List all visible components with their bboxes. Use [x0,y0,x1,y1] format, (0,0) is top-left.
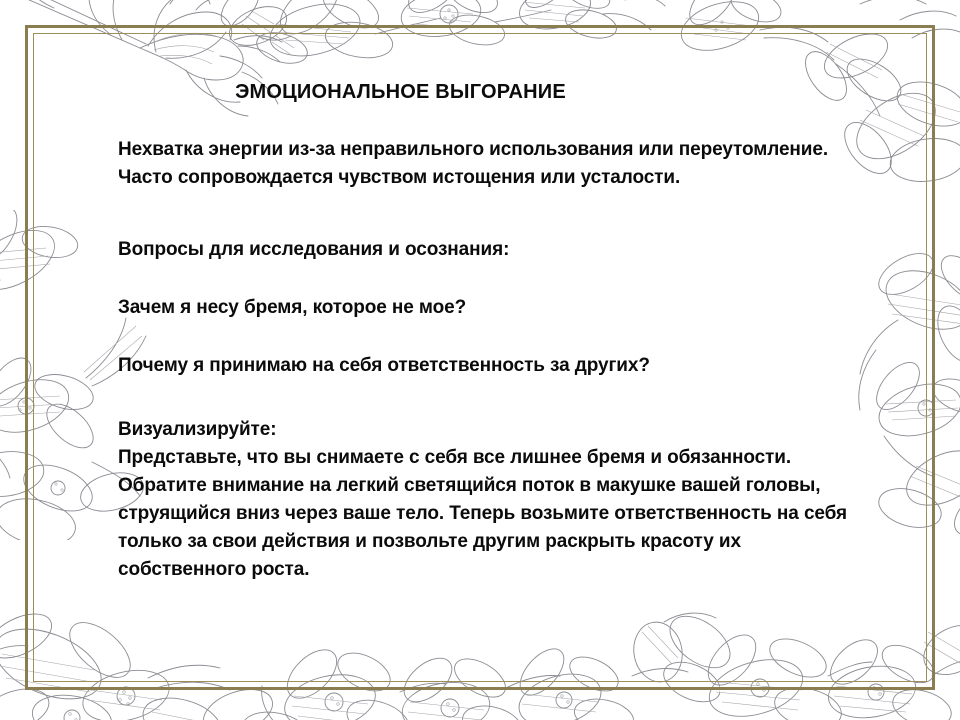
visualize-paragraph: Представьте, что вы снимаете с себя все … [118,444,863,584]
slide-canvas: ЭМОЦИОНАЛЬНОЕ ВЫГОРАНИЕ Нехватка энергии… [0,0,960,720]
questions-heading: Вопросы для исследования и осознания: [118,236,863,264]
page-title: ЭМОЦИОНАЛЬНОЕ ВЫГОРАНИЕ [118,80,863,104]
slide-content: ЭМОЦИОНАЛЬНОЕ ВЫГОРАНИЕ Нехватка энергии… [118,60,863,584]
visualize-heading: Визуализируйте: [118,416,863,444]
question-one: Зачем я несу бремя, которое не мое? [118,294,863,322]
intro-paragraph: Нехватка энергии из-за неправильного исп… [118,136,863,192]
question-two: Почему я принимаю на себя ответственност… [118,352,863,380]
